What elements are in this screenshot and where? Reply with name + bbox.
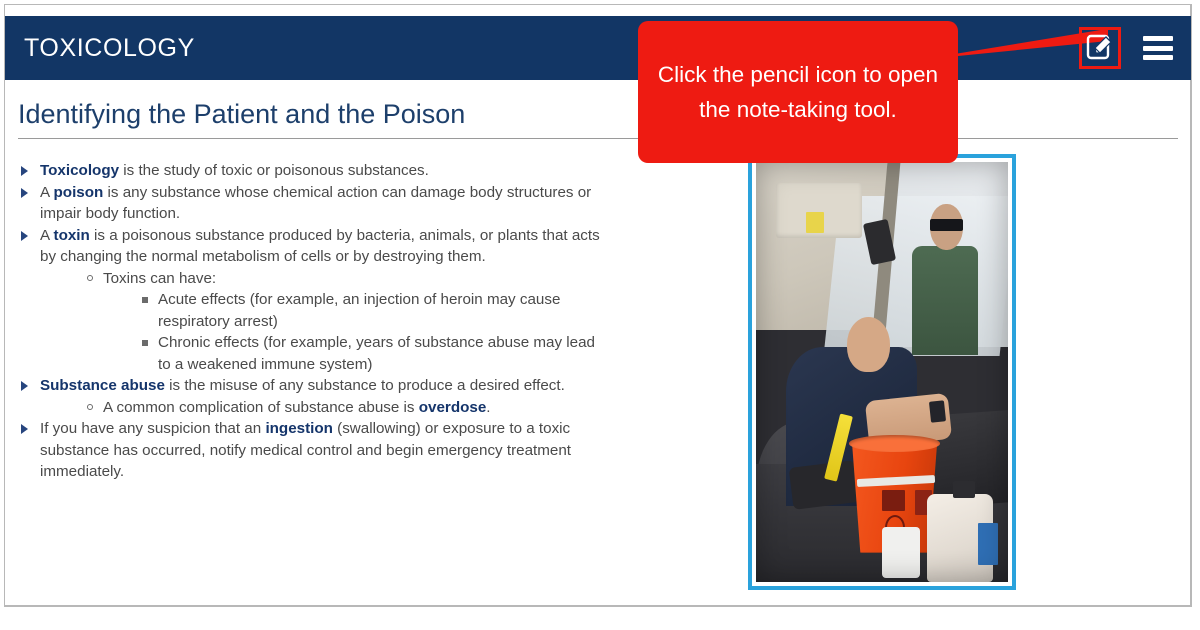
slide-heading-text: Identifying the Patient and the Poison bbox=[18, 98, 1178, 138]
bullet-item: A common complication of substance abuse… bbox=[85, 397, 608, 419]
bullet-text: A common complication of substance abuse… bbox=[103, 399, 419, 416]
note-tool-highlight bbox=[1079, 27, 1121, 69]
bullet-triangle-icon bbox=[21, 166, 28, 176]
page-title: TOXICOLOGY bbox=[24, 34, 195, 63]
bullet-text: Toxins can have: bbox=[103, 270, 216, 287]
bullet-text: is any substance whose chemical action c… bbox=[40, 184, 591, 223]
content-column: Toxicology is the study of toxic or pois… bbox=[18, 160, 608, 483]
slide-root: TOXICOLOGY Identifying th bbox=[0, 0, 1200, 630]
bullet-text: Chronic effects (for example, years of s… bbox=[158, 334, 595, 373]
bullet-text: is a poisonous substance produced by bac… bbox=[40, 227, 600, 266]
hamburger-bar-3 bbox=[1143, 55, 1173, 60]
bullet-triangle-icon bbox=[21, 381, 28, 391]
bullet-text: If you have any suspicion that an bbox=[40, 420, 265, 437]
bullet-text: A bbox=[40, 227, 54, 244]
key-term: Toxicology bbox=[40, 162, 119, 179]
bullet-text: . bbox=[486, 399, 490, 416]
bullet-triangle-icon bbox=[21, 188, 28, 198]
bullet-triangle-icon bbox=[21, 424, 28, 434]
hamburger-menu-icon[interactable] bbox=[1143, 36, 1173, 60]
heading-divider bbox=[18, 138, 1178, 139]
bullet-list: Toxicology is the study of toxic or pois… bbox=[18, 160, 608, 483]
bullet-item: Toxins can have:Acute effects (for examp… bbox=[85, 268, 608, 376]
bullet-item: Chronic effects (for example, years of s… bbox=[140, 332, 608, 375]
bullet-sublist: Toxins can have:Acute effects (for examp… bbox=[40, 268, 608, 376]
key-term: toxin bbox=[54, 227, 90, 244]
key-term: overdose bbox=[419, 399, 487, 416]
bullet-triangle-icon bbox=[21, 231, 28, 241]
callout-box: Click the pencil icon to open the note-t… bbox=[638, 21, 958, 163]
bullet-text: is the misuse of any substance to produc… bbox=[165, 377, 565, 394]
bullet-item: A poison is any substance whose chemical… bbox=[18, 182, 608, 225]
bullet-circle-icon bbox=[87, 275, 93, 281]
hamburger-bar-1 bbox=[1143, 36, 1173, 41]
bullet-item: Substance abuse is the misuse of any sub… bbox=[18, 375, 608, 418]
header-actions bbox=[1079, 27, 1173, 69]
bullet-item: Acute effects (for example, an injection… bbox=[140, 289, 608, 332]
hamburger-bar-2 bbox=[1143, 46, 1173, 51]
lesson-photo-frame bbox=[748, 154, 1016, 590]
key-term: poison bbox=[54, 184, 104, 201]
key-term: ingestion bbox=[265, 420, 333, 437]
bullet-item: If you have any suspicion that an ingest… bbox=[18, 418, 608, 483]
bullet-text: is the study of toxic or poisonous subst… bbox=[119, 162, 429, 179]
bullet-sublist: Acute effects (for example, an injection… bbox=[103, 289, 608, 375]
bullet-square-icon bbox=[142, 297, 148, 303]
lesson-photo bbox=[756, 162, 1008, 582]
bullet-text: A bbox=[40, 184, 54, 201]
bullet-item: A toxin is a poisonous substance produce… bbox=[18, 225, 608, 376]
bullet-text: Acute effects (for example, an injection… bbox=[158, 291, 560, 330]
bullet-sublist: A common complication of substance abuse… bbox=[40, 397, 608, 419]
bullet-item: Toxicology is the study of toxic or pois… bbox=[18, 160, 608, 182]
key-term: Substance abuse bbox=[40, 377, 165, 394]
pencil-icon[interactable] bbox=[1086, 34, 1114, 62]
bullet-circle-icon bbox=[87, 404, 93, 410]
slide-heading: Identifying the Patient and the Poison bbox=[18, 98, 1178, 139]
callout-text: Click the pencil icon to open the note-t… bbox=[638, 57, 958, 127]
bullet-square-icon bbox=[142, 340, 148, 346]
